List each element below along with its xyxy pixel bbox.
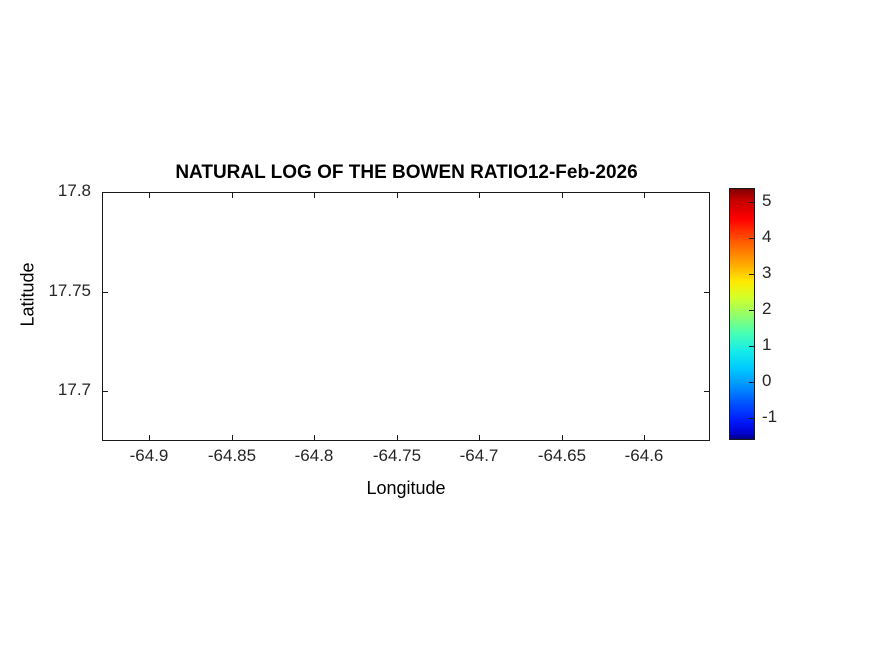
x-tick — [397, 435, 398, 441]
x-tick-label: -64.65 — [517, 446, 607, 466]
x-tick-label: -64.9 — [104, 446, 194, 466]
chart-title: NATURAL LOG OF THE BOWEN RATIO12-Feb-202… — [102, 162, 711, 184]
colorbar-gradient — [729, 188, 755, 440]
matlab-figure-canvas: NATURAL LOG OF THE BOWEN RATIO12-Feb-202… — [0, 0, 875, 656]
y-tick-label: 17.8 — [0, 181, 91, 201]
colorbar-tick — [749, 418, 754, 419]
colorbar-tick — [749, 274, 754, 275]
x-tick-label: -64.6 — [599, 446, 689, 466]
x-tick — [644, 192, 645, 198]
x-tick-label: -64.85 — [187, 446, 277, 466]
y-tick — [704, 192, 710, 193]
y-axis-label: Latitude — [18, 205, 39, 385]
y-tick — [102, 192, 108, 193]
axes-frame — [102, 192, 710, 441]
colorbar-tick — [749, 310, 754, 311]
colorbar-tick-label: 3 — [762, 263, 771, 283]
colorbar-tick-label: 0 — [762, 371, 771, 391]
y-tick-label: 17.7 — [0, 380, 91, 400]
x-tick — [562, 435, 563, 441]
x-tick — [314, 435, 315, 441]
x-tick — [314, 192, 315, 198]
colorbar-tick-label: -1 — [762, 407, 777, 427]
x-tick — [562, 192, 563, 198]
x-tick-label: -64.8 — [269, 446, 359, 466]
colorbar-tick-label: 5 — [762, 191, 771, 211]
x-tick-label: -64.7 — [434, 446, 524, 466]
colorbar-tick — [749, 238, 754, 239]
y-tick — [102, 391, 108, 392]
x-tick — [479, 435, 480, 441]
colorbar-tick-label: 4 — [762, 227, 771, 247]
x-axis-label: Longitude — [102, 478, 710, 499]
x-tick — [397, 192, 398, 198]
x-tick — [644, 435, 645, 441]
y-tick-label: 17.75 — [0, 281, 91, 301]
y-tick — [704, 292, 710, 293]
colorbar — [729, 188, 755, 440]
x-tick-label: -64.75 — [352, 446, 442, 466]
x-tick — [479, 192, 480, 198]
x-tick — [232, 192, 233, 198]
x-tick — [232, 435, 233, 441]
colorbar-tick — [749, 202, 754, 203]
y-tick — [704, 391, 710, 392]
x-tick — [149, 192, 150, 198]
colorbar-tick-label: 2 — [762, 299, 771, 319]
colorbar-tick — [749, 382, 754, 383]
colorbar-tick — [749, 346, 754, 347]
colorbar-tick-label: 1 — [762, 335, 771, 355]
x-tick — [149, 435, 150, 441]
y-tick — [102, 292, 108, 293]
